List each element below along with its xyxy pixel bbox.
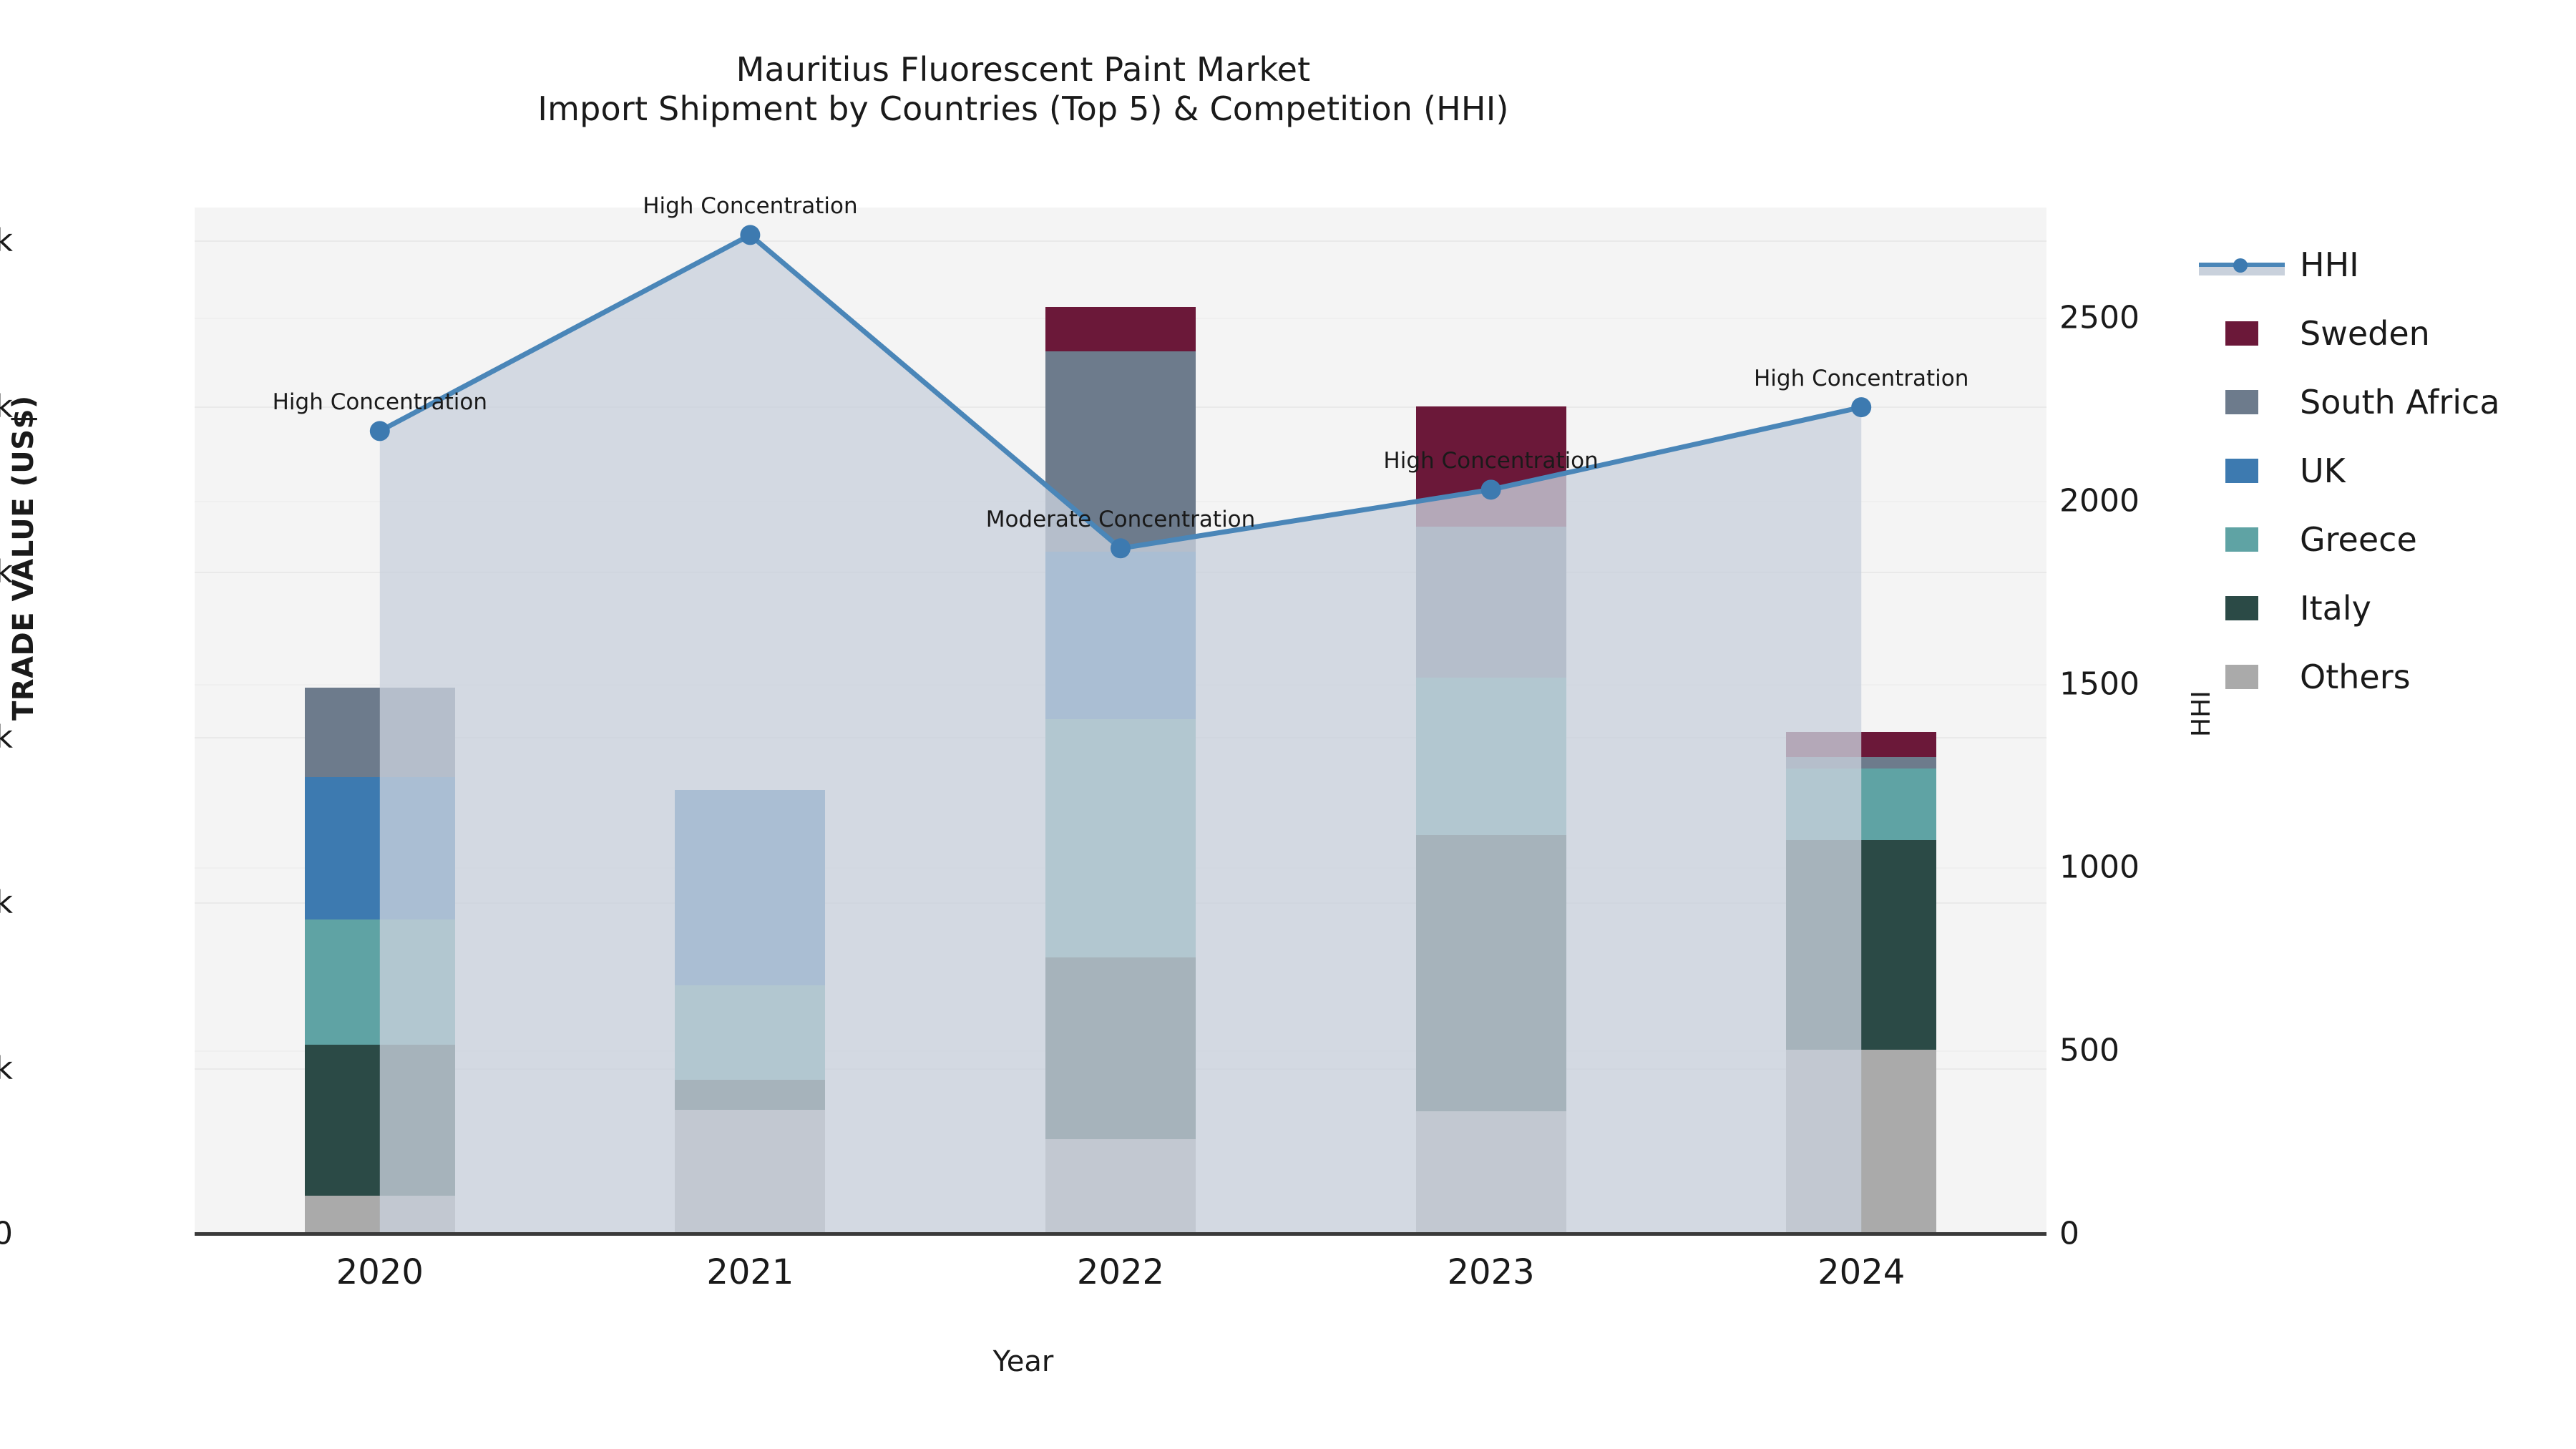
legend-color-swatch [2225, 459, 2258, 483]
legend-color-swatch [2225, 665, 2258, 689]
legend-item-label: Greece [2287, 520, 2417, 559]
x-tick-2021: 2021 [706, 1252, 794, 1292]
legend-item-label: Sweden [2287, 314, 2430, 353]
y-tick-right-500: 500 [2059, 1032, 2119, 1068]
chart-title-block: Mauritius Fluorescent Paint Market Impor… [0, 50, 2046, 129]
chart-subtitle: Import Shipment by Countries (Top 5) & C… [0, 89, 2046, 129]
legend-item-hhi[interactable]: HHI [2197, 230, 2569, 299]
legend-line-icon [2199, 254, 2285, 275]
legend-swatch-wrap [2197, 459, 2287, 483]
hhi-area-fill [380, 235, 1861, 1234]
y-tick-left-0: 0 [0, 1216, 13, 1252]
legend-item-label: HHI [2287, 245, 2359, 284]
legend-color-swatch [2225, 596, 2258, 620]
legend-item-italy[interactable]: Italy [2197, 574, 2569, 643]
hhi-marker-2024[interactable] [1851, 397, 1871, 417]
y-tick-left-150k: 150k [0, 719, 13, 756]
y-tick-left-100k: 100k [0, 884, 13, 921]
chart-legend: HHISwedenSouth AfricaUKGreeceItalyOthers [2197, 230, 2569, 711]
y-tick-right-1500: 1500 [2059, 665, 2140, 702]
y-tick-right-0: 0 [2059, 1216, 2079, 1252]
legend-item-label: UK [2287, 452, 2346, 490]
y-axis-left-label: TRADE VALUE (US$) [7, 395, 40, 721]
y-tick-right-2500: 2500 [2059, 299, 2140, 336]
legend-swatch-wrap [2197, 390, 2287, 414]
x-axis-line [195, 1232, 2046, 1236]
legend-item-label: South Africa [2287, 383, 2500, 421]
legend-swatch-wrap [2197, 254, 2287, 275]
x-tick-2022: 2022 [1077, 1252, 1164, 1292]
hhi-marker-2021[interactable] [740, 225, 760, 245]
hhi-marker-2023[interactable] [1481, 479, 1501, 499]
chart-figure: Mauritius Fluorescent Paint Market Impor… [0, 0, 2576, 1449]
y-tick-right-2000: 2000 [2059, 482, 2140, 519]
chart-title: Mauritius Fluorescent Paint Market [0, 50, 2046, 89]
legend-swatch-wrap [2197, 596, 2287, 620]
legend-color-swatch [2225, 390, 2258, 414]
y-tick-left-300k: 300k [0, 223, 13, 259]
legend-item-label: Italy [2287, 589, 2371, 628]
legend-swatch-wrap [2197, 321, 2287, 346]
legend-swatch-wrap [2197, 527, 2287, 552]
x-tick-2024: 2024 [1818, 1252, 1905, 1292]
legend-color-swatch [2225, 527, 2258, 552]
plot-area [195, 208, 2046, 1234]
legend-item-label: Others [2287, 658, 2411, 696]
y-tick-left-50k: 50k [0, 1050, 13, 1086]
legend-swatch-wrap [2197, 665, 2287, 689]
legend-item-sweden[interactable]: Sweden [2197, 299, 2569, 368]
legend-item-uk[interactable]: UK [2197, 436, 2569, 505]
legend-item-others[interactable]: Others [2197, 643, 2569, 711]
legend-item-greece[interactable]: Greece [2197, 505, 2569, 574]
hhi-marker-2020[interactable] [370, 421, 390, 441]
y-tick-right-1000: 1000 [2059, 849, 2140, 885]
legend-color-swatch [2225, 321, 2258, 346]
hhi-marker-2022[interactable] [1111, 538, 1131, 558]
hhi-line-overlay [195, 208, 2046, 1234]
legend-item-south-africa[interactable]: South Africa [2197, 368, 2569, 436]
x-axis-label: Year [0, 1345, 2046, 1378]
x-tick-2023: 2023 [1448, 1252, 1535, 1292]
x-tick-2020: 2020 [336, 1252, 424, 1292]
legend-marker-dot [2233, 258, 2248, 273]
